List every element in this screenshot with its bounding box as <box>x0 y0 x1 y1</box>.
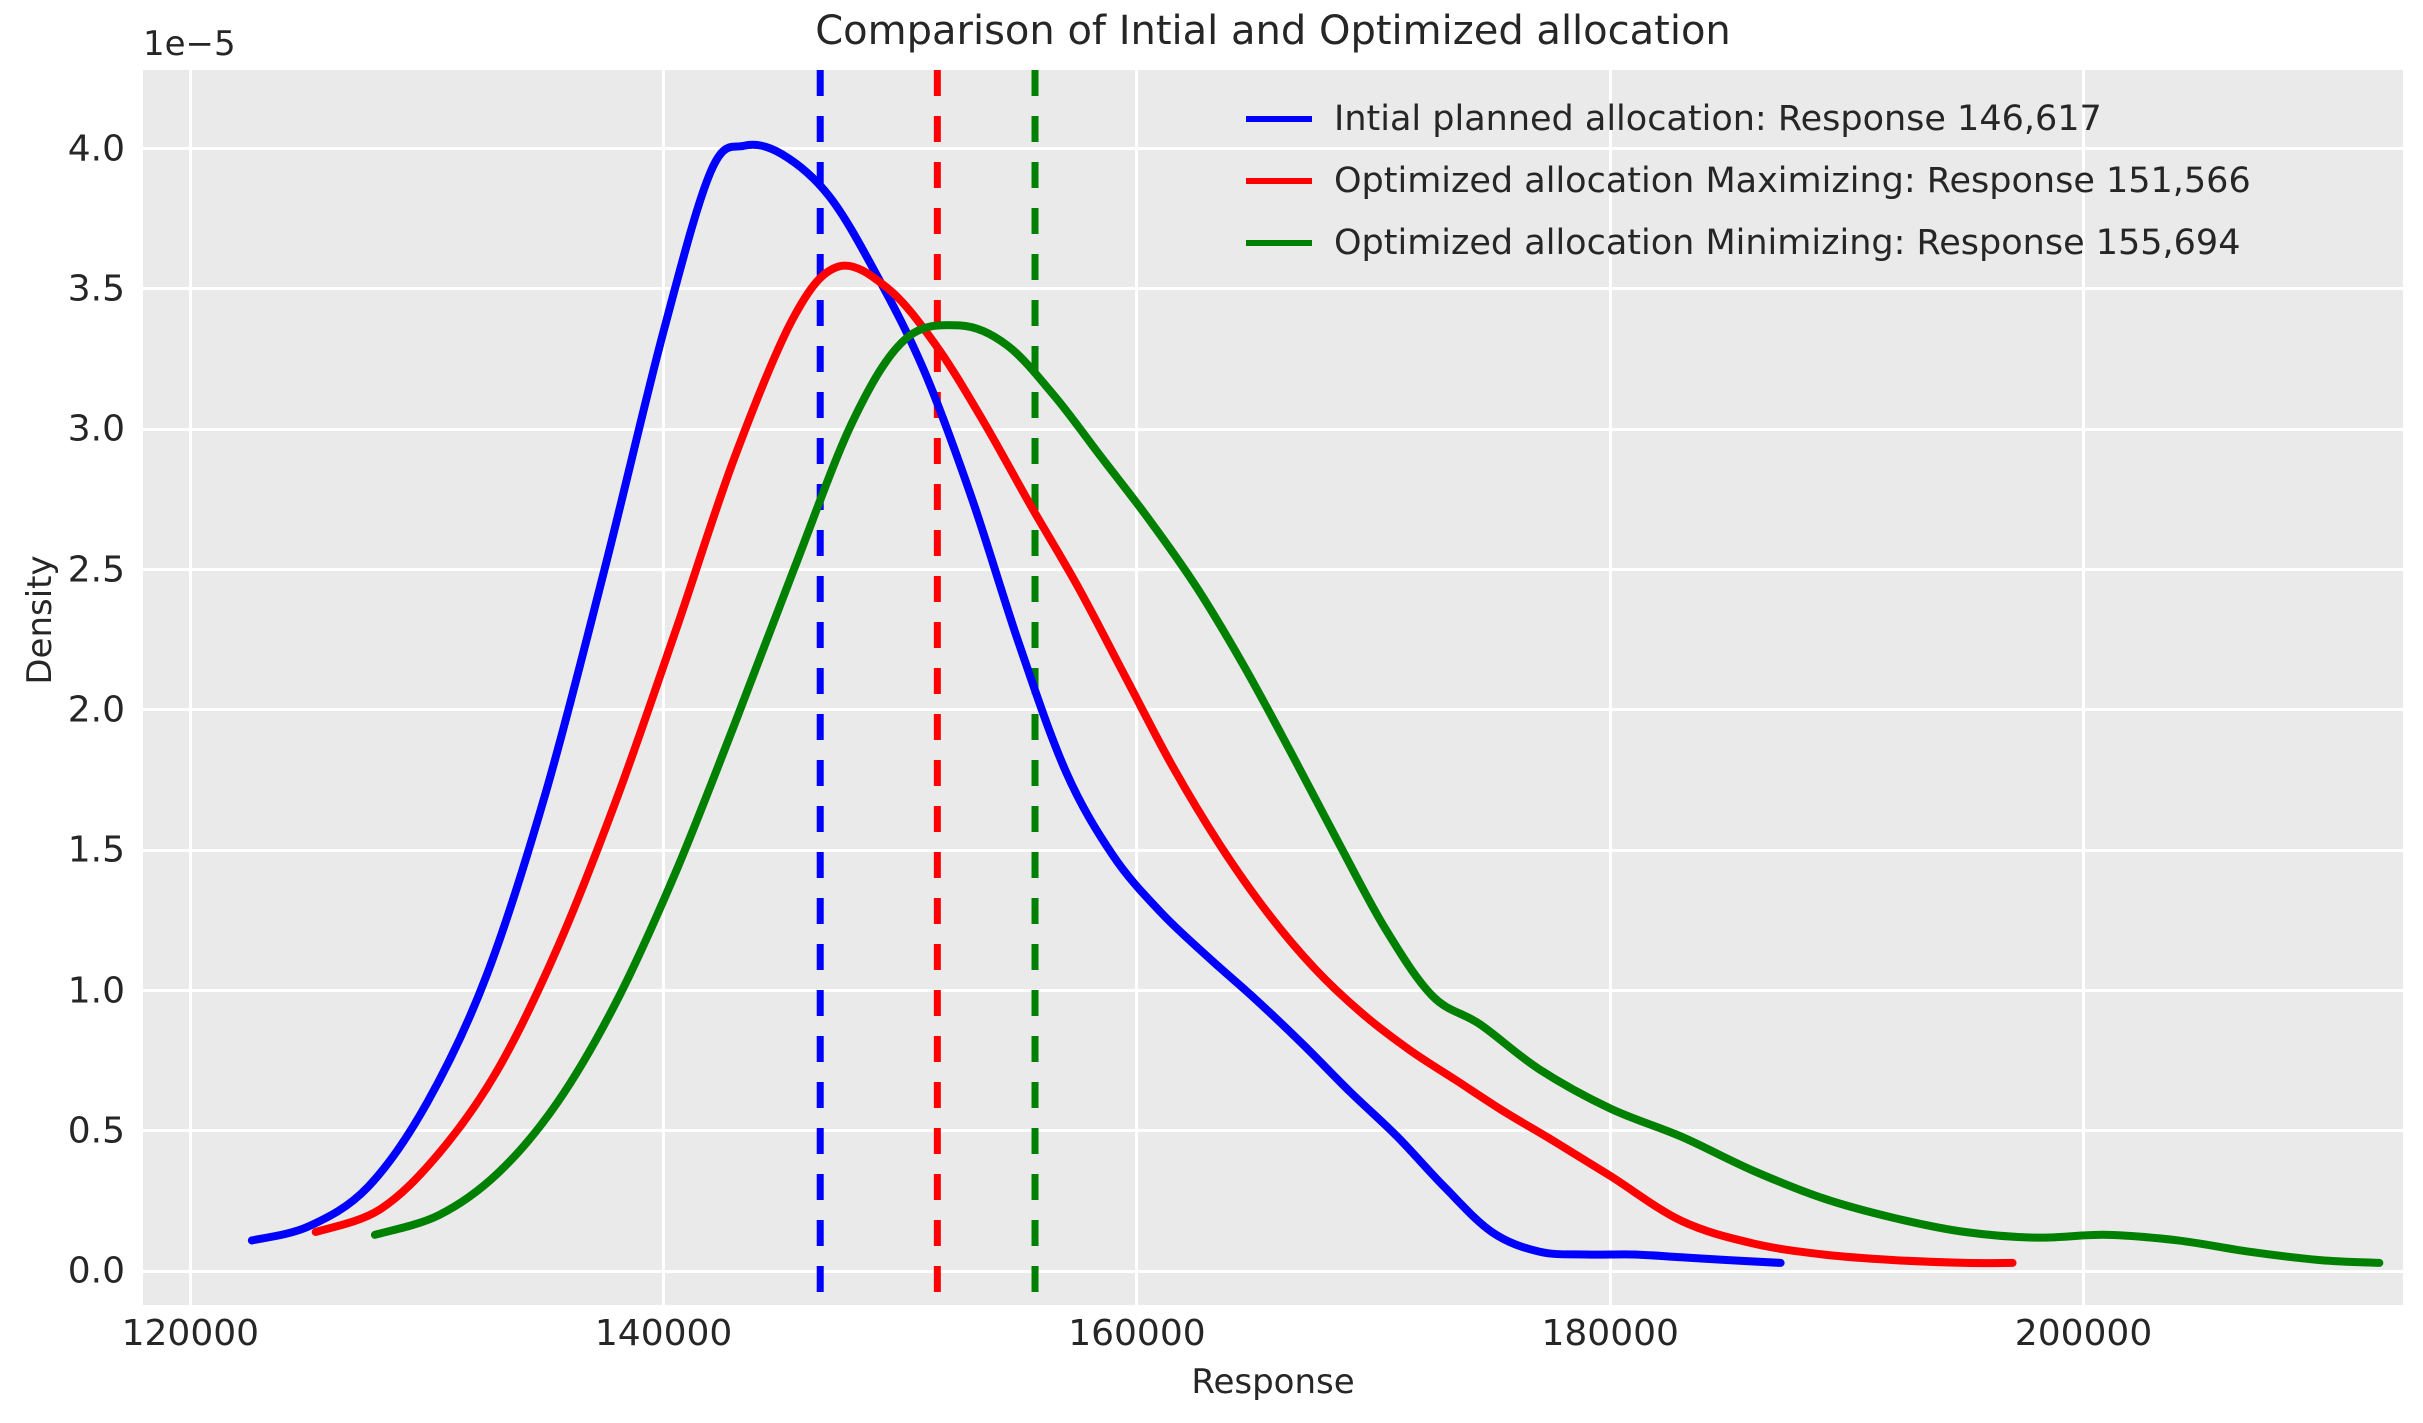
page-title: Comparison of Intial and Optimized alloc… <box>143 8 2403 54</box>
legend: Intial planned allocation: Response 146,… <box>1232 82 2265 284</box>
x-tick-label-1: 140000 <box>595 1313 732 1354</box>
y-tick-label-0: 0.0 <box>68 1251 125 1292</box>
legend-item-1[interactable]: Optimized allocation Maximizing: Respons… <box>1246 150 2251 212</box>
figure-canvas: Comparison of Intial and Optimized alloc… <box>0 0 2423 1423</box>
y-tick-label-7: 3.5 <box>68 268 125 309</box>
y-tick-label-4: 2.0 <box>68 689 125 730</box>
density-curve-1 <box>316 266 2013 1264</box>
y-axis-label: Density <box>20 520 60 720</box>
y-tick-label-6: 3.0 <box>68 409 125 450</box>
x-tick-label-0: 120000 <box>122 1313 259 1354</box>
legend-swatch-2 <box>1246 240 1312 246</box>
y-tick-label-2: 1.0 <box>68 970 125 1011</box>
legend-label-2: Optimized allocation Minimizing: Respons… <box>1334 223 2240 263</box>
legend-item-2[interactable]: Optimized allocation Minimizing: Respons… <box>1246 212 2251 274</box>
legend-swatch-0 <box>1246 116 1312 122</box>
x-tick-label-3: 180000 <box>1542 1313 1679 1354</box>
y-tick-label-5: 2.5 <box>68 549 125 590</box>
y-tick-label-1: 0.5 <box>68 1110 125 1151</box>
y-axis-offset-label: 1e−5 <box>143 24 236 64</box>
legend-item-0[interactable]: Intial planned allocation: Response 146,… <box>1246 88 2251 150</box>
legend-label-1: Optimized allocation Maximizing: Respons… <box>1334 161 2251 201</box>
legend-label-0: Intial planned allocation: Response 146,… <box>1334 99 2102 139</box>
y-tick-label-8: 4.0 <box>68 128 125 169</box>
x-axis-label: Response <box>143 1362 2403 1402</box>
legend-swatch-1 <box>1246 178 1312 184</box>
y-tick-label-3: 1.5 <box>68 830 125 871</box>
x-tick-label-4: 200000 <box>2015 1313 2152 1354</box>
x-tick-label-2: 160000 <box>1068 1313 1205 1354</box>
